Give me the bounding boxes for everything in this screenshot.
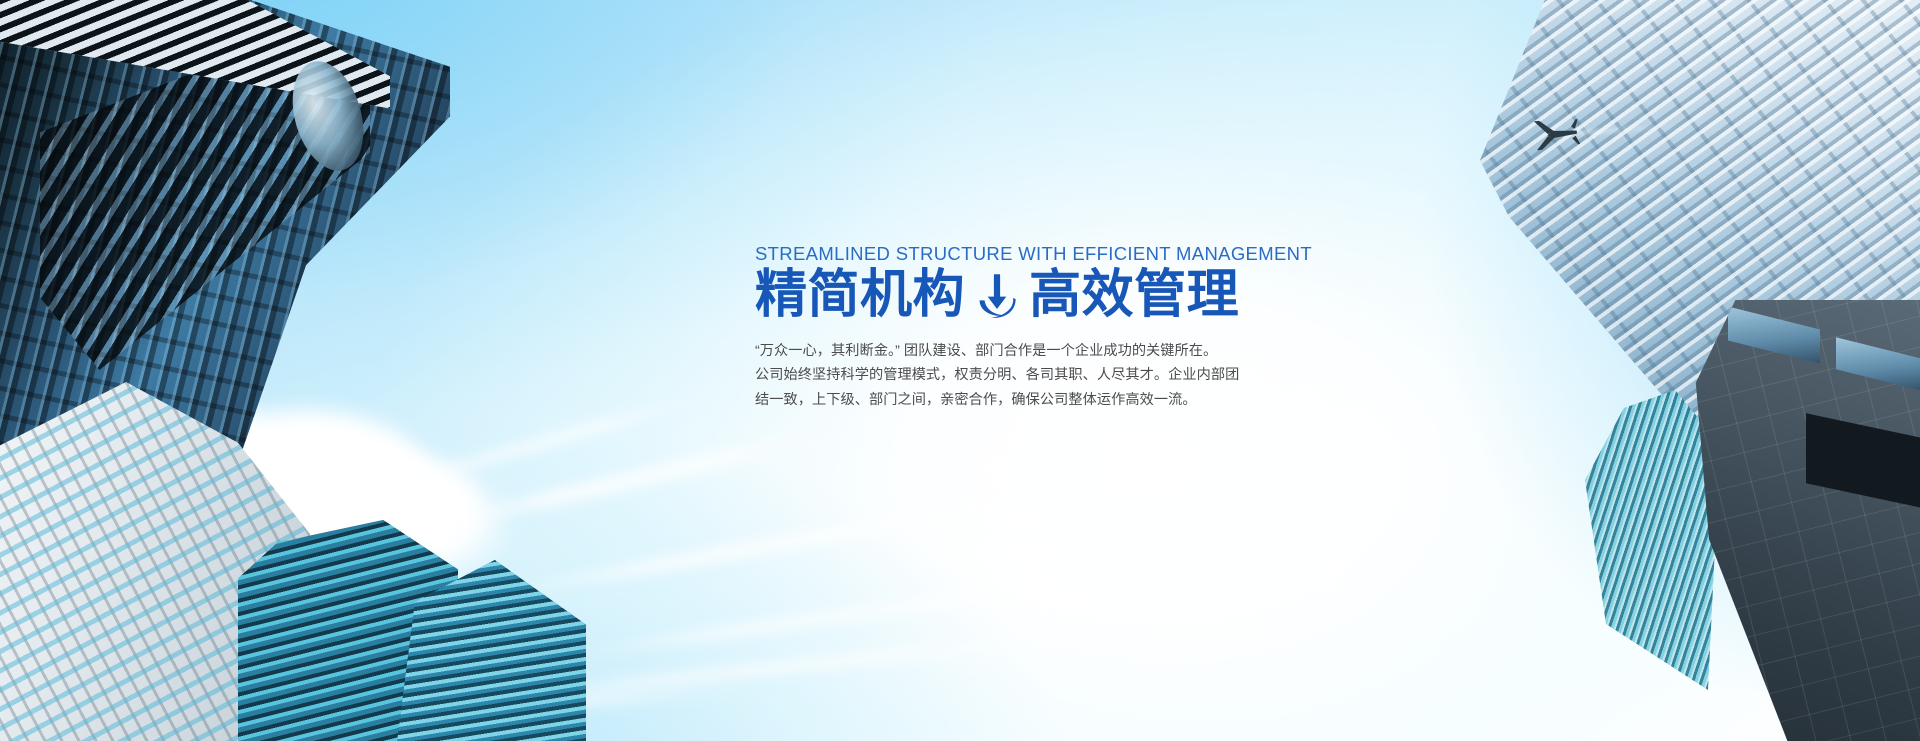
hero-banner: STREAMLINED STRUCTURE WITH EFFICIENT MAN… [0,0,1920,741]
headline-right-text: 高效管理 [1029,268,1239,323]
body-line-3: 结一致，上下级、部门之间，亲密合作，确保公司整体运作高效一流。 [755,388,1295,412]
hero-eyebrow: STREAMLINED STRUCTURE WITH EFFICIENT MAN… [755,244,1315,264]
arrow-down-swoosh-logo-icon [977,273,1017,319]
headline-left-text: 精简机构 [755,268,965,323]
airplane-silhouette-icon [1525,114,1580,153]
hero-body-copy: “万众一心，其利断金。” 团队建设、部门合作是一个企业成功的关键所在。 公司始终… [755,339,1295,412]
hero-copy-block: STREAMLINED STRUCTURE WITH EFFICIENT MAN… [755,244,1315,412]
body-line-2: 公司始终坚持科学的管理模式，权责分明、各司其职、人尽其才。企业内部团 [755,363,1295,387]
body-line-1: “万众一心，其利断金。” 团队建设、部门合作是一个企业成功的关键所在。 [755,339,1295,363]
hero-headline: 精简机构 高效管理 [755,268,1315,323]
